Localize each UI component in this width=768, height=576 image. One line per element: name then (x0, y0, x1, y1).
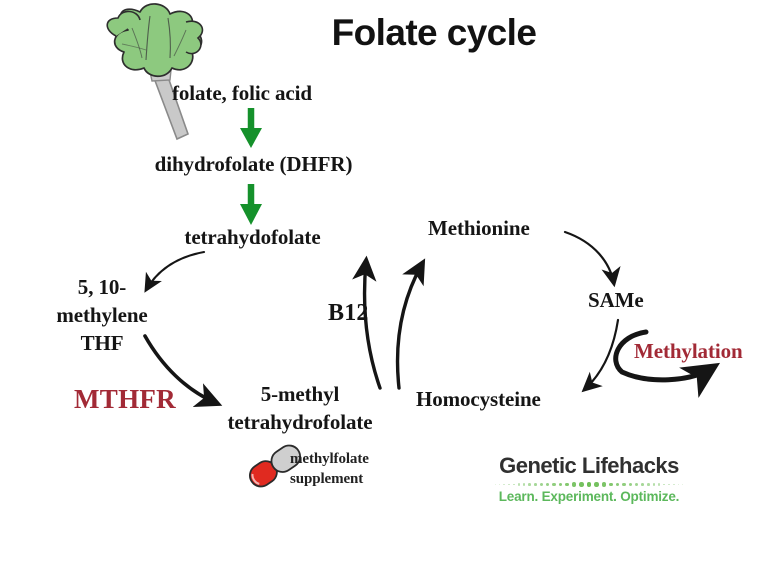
node-methylation: Methylation (634, 339, 743, 363)
node-mthfr: MTHFR (74, 384, 176, 415)
folate-cycle-diagram: Folate cycle (0, 0, 768, 576)
supplement-label-line2: supplement (290, 470, 363, 489)
genetic-lifehacks-logo: Genetic Lifehacks Learn. Experiment. Opt… (483, 455, 695, 504)
node-methylene-thf-line3: THF (40, 331, 164, 355)
node-homocysteine: Homocysteine (416, 387, 541, 411)
logo-tagline: Learn. Experiment. Optimize. (483, 490, 695, 504)
arrow-same-to-homocysteine (584, 320, 618, 390)
green-arrow-dihydrofolate-to-tetrahydofolate (240, 184, 262, 225)
page-title: Folate cycle (0, 12, 768, 54)
green-arrow-folate-to-dihydrofolate (240, 108, 262, 148)
node-5-methyl-thf-line2: tetrahydrofolate (209, 410, 391, 434)
node-methylene-thf-line2: methylene (40, 303, 164, 327)
logo-brand: Genetic Lifehacks (483, 455, 695, 477)
arrow-b12-right-to-methionine (398, 264, 422, 388)
node-folate-folic-acid: folate, folic acid (172, 81, 312, 105)
logo-dot-divider (483, 481, 695, 488)
node-methylene-thf-line1: 5, 10- (40, 275, 164, 299)
node-b12: B12 (328, 300, 369, 328)
supplement-label-line1: methylfolate (290, 450, 369, 469)
arrow-methionine-to-same (565, 232, 614, 284)
node-same: SAMe (588, 288, 644, 312)
node-methionine: Methionine (428, 216, 530, 240)
node-5-methyl-thf-line1: 5-methyl (215, 382, 385, 406)
node-tetrahydofolate: tetrahydofolate (160, 225, 345, 249)
node-dihydrofolate: dihydrofolate (DHFR) (141, 152, 366, 176)
